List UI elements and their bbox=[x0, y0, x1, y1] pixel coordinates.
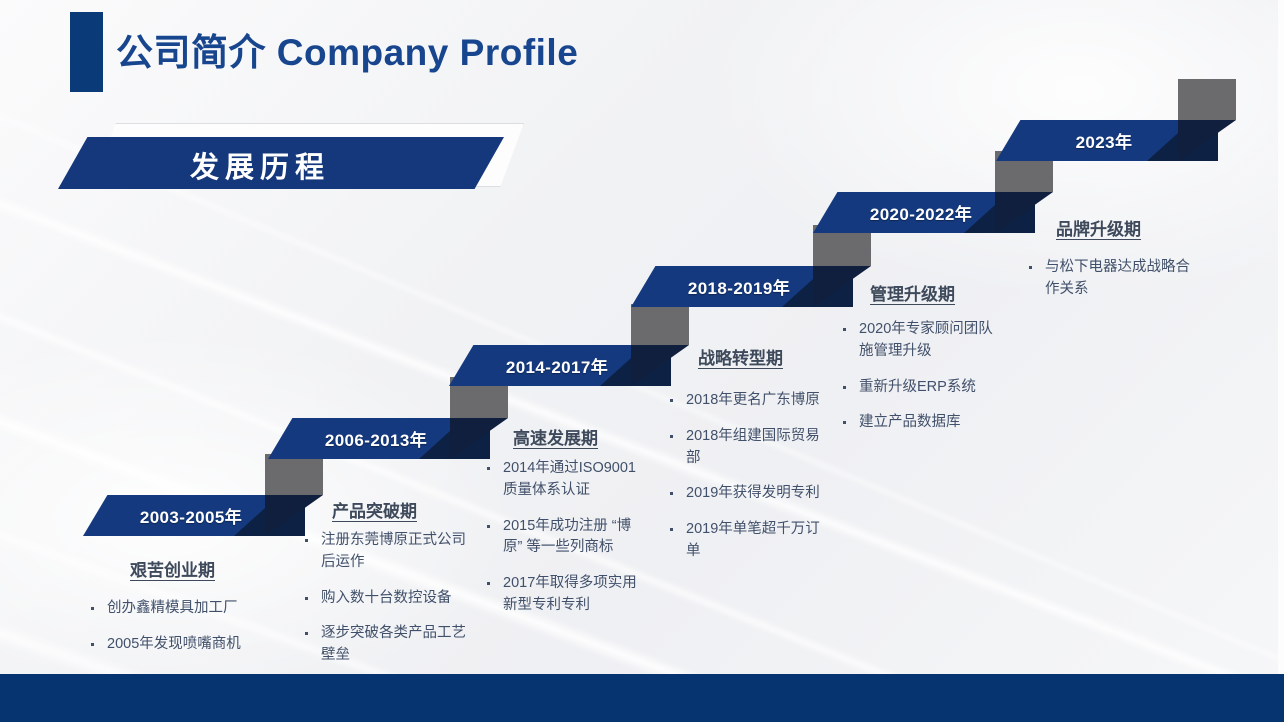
step-bullets-3: 2014年通过ISO9001质量体系认证 2015年成功注册 “博原” 等一些列… bbox=[482, 458, 642, 631]
list-item: 2020年专家顾问团队施管理升级 bbox=[838, 319, 1004, 363]
footer-bar bbox=[0, 674, 1284, 722]
list-item: 逐步突破各类产品工艺壁垒 bbox=[300, 623, 468, 667]
title-accent-bar bbox=[70, 12, 103, 92]
list-item: 2018年组建国际贸易部 bbox=[665, 426, 825, 470]
ribbon-tab-gray bbox=[265, 454, 323, 495]
slide-right-edge bbox=[1278, 0, 1284, 722]
list-item: 重新升级ERP系统 bbox=[838, 377, 1004, 399]
page-title: 公司简介 Company Profile bbox=[116, 22, 578, 76]
list-item: 与松下电器达成战略合作关系 bbox=[1024, 257, 1196, 301]
section-banner-label: 发展历程 bbox=[190, 144, 330, 186]
list-item: 2014年通过ISO9001质量体系认证 bbox=[482, 458, 642, 502]
list-item: 2015年成功注册 “博原” 等一些列商标 bbox=[482, 516, 642, 560]
list-item: 建立产品数据库 bbox=[838, 412, 1004, 434]
step-year-label: 2023年 bbox=[996, 120, 1218, 161]
step-heading-4: 战略转型期 bbox=[698, 344, 783, 369]
list-item: 2019年单笔超千万订单 bbox=[665, 519, 825, 563]
step-heading-1: 艰苦创业期 bbox=[130, 556, 215, 581]
step-bullets-2: 注册东莞博原正式公司后运作 购入数十台数控设备 逐步突破各类产品工艺壁垒 bbox=[300, 530, 468, 681]
step-bullets-5: 2020年专家顾问团队施管理升级 重新升级ERP系统 建立产品数据库 bbox=[838, 319, 1004, 448]
step-bullets-4: 2018年更名广东博原 2018年组建国际贸易部 2019年获得发明专利 201… bbox=[665, 390, 825, 577]
list-item: 创办鑫精模具加工厂 bbox=[86, 598, 276, 620]
step-year-label: 2003-2005年 bbox=[83, 495, 305, 536]
step-heading-2: 产品突破期 bbox=[332, 497, 417, 522]
list-item: 2018年更名广东博原 bbox=[665, 390, 825, 412]
step-heading-5: 管理升级期 bbox=[870, 280, 955, 305]
step-year-label: 2018-2019年 bbox=[631, 266, 853, 307]
ribbon-tab-gray bbox=[1178, 79, 1236, 120]
list-item: 购入数十台数控设备 bbox=[300, 588, 468, 610]
list-item: 2019年获得发明专利 bbox=[665, 483, 825, 505]
list-item: 2017年取得多项实用新型专利专利 bbox=[482, 573, 642, 617]
slide-canvas: 公司简介 Company Profile 发展历程 2003-2005年 艰苦创… bbox=[0, 0, 1284, 722]
step-year-label: 2014-2017年 bbox=[449, 345, 671, 386]
step-year-label: 2006-2013年 bbox=[268, 418, 490, 459]
list-item: 2005年发现喷嘴商机 bbox=[86, 634, 276, 656]
step-heading-3: 高速发展期 bbox=[513, 424, 598, 449]
step-bullets-6: 与松下电器达成战略合作关系 bbox=[1024, 257, 1196, 315]
step-bullets-1: 创办鑫精模具加工厂 2005年发现喷嘴商机 bbox=[86, 598, 276, 670]
step-year-label: 2020-2022年 bbox=[813, 192, 1035, 233]
step-heading-6: 品牌升级期 bbox=[1056, 215, 1141, 240]
ribbon-tab-gray bbox=[631, 304, 689, 345]
list-item: 注册东莞博原正式公司后运作 bbox=[300, 530, 468, 574]
